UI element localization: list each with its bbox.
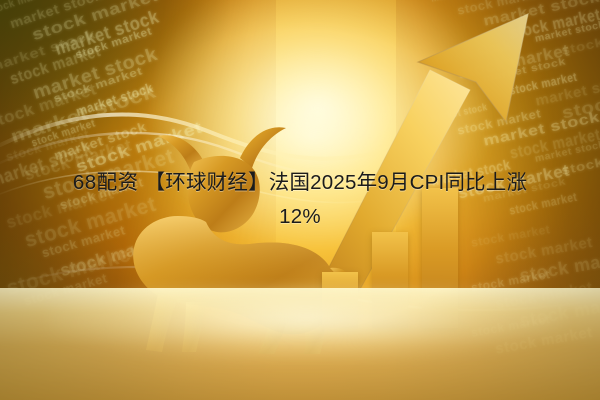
headline-line-2: 12% — [8, 200, 592, 234]
headline: 68配资 【环球财经】法国2025年9月CPI同比上涨 12% — [0, 166, 600, 234]
news-cover-image: stock marketmarket stockstock marketmark… — [0, 0, 600, 400]
floor-sheen — [48, 290, 564, 360]
headline-line-1: 【环球财经】法国2025年9月CPI同比上涨 — [145, 171, 528, 194]
watermark-text: 68配资 — [73, 171, 139, 194]
